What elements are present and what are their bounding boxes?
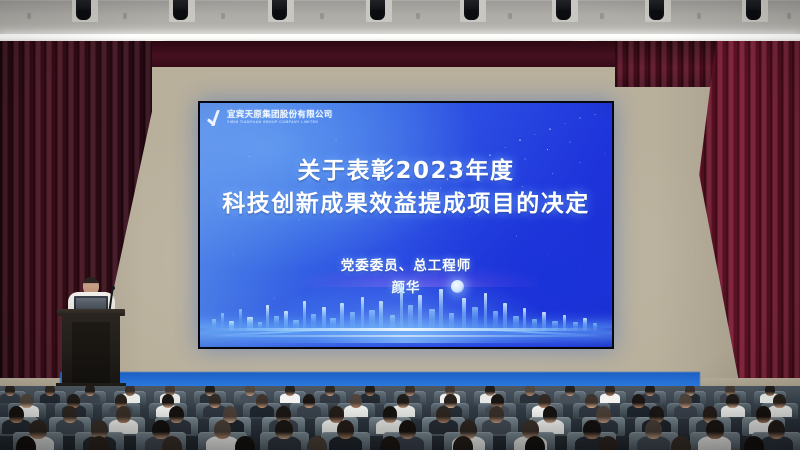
stage-lamp-icon xyxy=(370,0,385,20)
tianyuan-logo-mark-icon xyxy=(208,110,224,126)
ceiling-fitting xyxy=(123,13,127,19)
company-name-cn: 宜宾天原集团股份有限公司 xyxy=(227,111,333,120)
screen-title-block: 关于表彰2023年度 科技创新成果效益提成项目的决定 xyxy=(200,155,612,220)
company-name-en: YIBIN TIANYUAN GROUP COMPANY LIMITED xyxy=(227,121,333,124)
stage-lamp-icon xyxy=(556,0,571,20)
led-display-screen: 宜宾天原集团股份有限公司 YIBIN TIANYUAN GROUP COMPAN… xyxy=(198,101,614,349)
podium-column xyxy=(72,322,110,384)
screen-title-line-2: 科技创新成果效益提成项目的决定 xyxy=(200,188,612,221)
stage-lamp-icon xyxy=(173,0,188,20)
microphone-icon xyxy=(111,286,115,290)
horizon-light-beam xyxy=(200,328,612,331)
ceiling-fitting xyxy=(697,13,701,19)
auditorium-screenshot: 宜宾天原集团股份有限公司 YIBIN TIANYUAN GROUP COMPAN… xyxy=(0,0,800,450)
ceiling-fitting xyxy=(787,13,791,19)
ceiling-fitting xyxy=(508,13,512,19)
company-logo: 宜宾天原集团股份有限公司 YIBIN TIANYUAN GROUP COMPAN… xyxy=(208,110,333,126)
city-skyline-graphic xyxy=(200,269,612,347)
stage-lamp-icon xyxy=(464,0,479,20)
ceiling-fitting xyxy=(221,13,225,19)
audience-seating xyxy=(0,386,800,450)
ceiling-led-strip xyxy=(0,34,800,41)
ceiling-fitting xyxy=(320,13,324,19)
ceiling-fitting xyxy=(600,13,604,19)
horizon-light-beam-secondary xyxy=(200,335,612,337)
ceiling-fitting xyxy=(27,13,31,19)
audience-shading xyxy=(0,386,800,450)
ceiling-fitting xyxy=(416,13,420,19)
stage-lamp-icon xyxy=(272,0,287,20)
skyline-halo xyxy=(256,273,556,343)
stage-lamp-icon xyxy=(746,0,761,20)
company-logo-text: 宜宾天原集团股份有限公司 YIBIN TIANYUAN GROUP COMPAN… xyxy=(227,111,333,124)
laptop-screen xyxy=(76,298,106,309)
stage-lamp-icon xyxy=(76,0,91,20)
ceiling-panel xyxy=(0,0,800,34)
stage-lamp-icon xyxy=(649,0,664,20)
ceiling-seam xyxy=(0,0,800,1)
led-screen-content: 宜宾天原集团股份有限公司 YIBIN TIANYUAN GROUP COMPAN… xyxy=(200,103,612,347)
screen-title-line-1: 关于表彰2023年度 xyxy=(200,155,612,188)
